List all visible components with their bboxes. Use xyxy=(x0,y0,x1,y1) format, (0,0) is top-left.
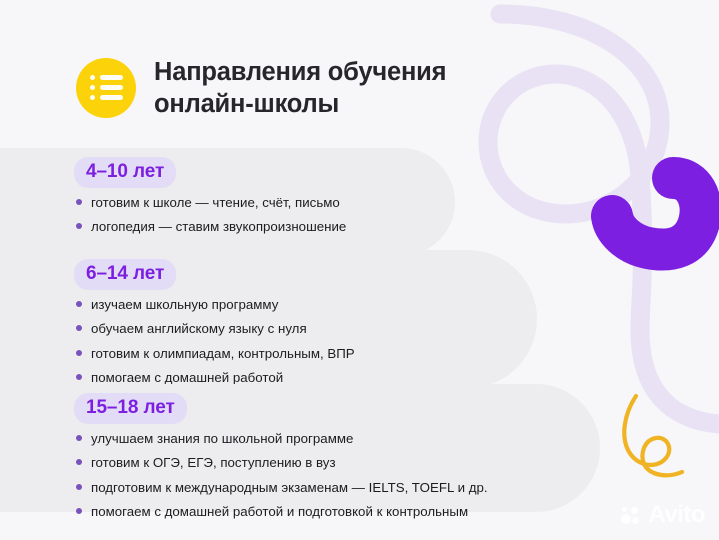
list-item: улучшаем знания по школьной программе xyxy=(76,432,488,445)
age-group-card: 15–18 лет улучшаем знания по школьной пр… xyxy=(0,384,600,512)
bullet-dot xyxy=(76,199,82,205)
list-item: подготовим к международным экзаменам — I… xyxy=(76,481,488,494)
list-item-label: готовим к олимпиадам, контрольным, ВПР xyxy=(91,347,355,360)
list-item: готовим к олимпиадам, контрольным, ВПР xyxy=(76,347,355,360)
avito-wordmark: Avito xyxy=(648,503,705,527)
bulleted-list-icon xyxy=(76,58,136,118)
list-item-label: помогаем с домашней работой и подготовко… xyxy=(91,505,468,518)
list-item: готовим к ОГЭ, ЕГЭ, поступлению в вуз xyxy=(76,456,488,469)
list-item-label: улучшаем знания по школьной программе xyxy=(91,432,353,445)
list-item: помогаем с домашней работой и подготовко… xyxy=(76,505,488,518)
list-item: изучаем школьную программу xyxy=(76,298,355,311)
list-item-label: помогаем с домашней работой xyxy=(91,371,283,384)
avito-watermark: Avito xyxy=(621,503,705,527)
age-badge: 6–14 лет xyxy=(74,259,176,290)
page-title: Направления обучения онлайн-школы xyxy=(154,56,446,121)
age-badge: 15–18 лет xyxy=(74,393,187,424)
benefit-list: готовим к школе — чтение, счёт, письмо л… xyxy=(76,196,346,234)
bullet-dot xyxy=(76,350,82,356)
bullet-dot xyxy=(76,484,82,490)
list-item: готовим к школе — чтение, счёт, письмо xyxy=(76,196,346,209)
age-badge: 4–10 лет xyxy=(74,157,176,188)
bullet-dot xyxy=(76,325,82,331)
list-item-label: логопедия — ставим звукопроизношение xyxy=(91,220,346,233)
avito-logo-icon xyxy=(621,504,643,526)
list-item-label: готовим к ОГЭ, ЕГЭ, поступлению в вуз xyxy=(91,456,336,469)
list-item: логопедия — ставим звукопроизношение xyxy=(76,220,346,233)
bullet-dot xyxy=(76,374,82,380)
list-item: обучаем английскому языку с нуля xyxy=(76,322,355,335)
list-item-label: готовим к школе — чтение, счёт, письмо xyxy=(91,196,340,209)
bullet-dot xyxy=(76,435,82,441)
list-item: помогаем с домашней работой xyxy=(76,371,355,384)
age-group-card: 6–14 лет изучаем школьную программу обуч… xyxy=(0,250,537,388)
age-group-card: 4–10 лет готовим к школе — чтение, счёт,… xyxy=(0,148,455,256)
bullet-dot xyxy=(76,301,82,307)
benefit-list: изучаем школьную программу обучаем англи… xyxy=(76,298,355,384)
list-item-label: подготовим к международным экзаменам — I… xyxy=(91,481,488,494)
bullet-dot xyxy=(76,223,82,229)
bullet-dot xyxy=(76,508,82,514)
page-header: Направления обучения онлайн-школы xyxy=(76,56,446,121)
list-item-label: обучаем английскому языку с нуля xyxy=(91,322,307,335)
bullet-dot xyxy=(76,459,82,465)
list-item-label: изучаем школьную программу xyxy=(91,298,278,311)
benefit-list: улучшаем знания по школьной программе го… xyxy=(76,432,488,518)
poster-content: Направления обучения онлайн-школы 4–10 л… xyxy=(0,0,719,540)
